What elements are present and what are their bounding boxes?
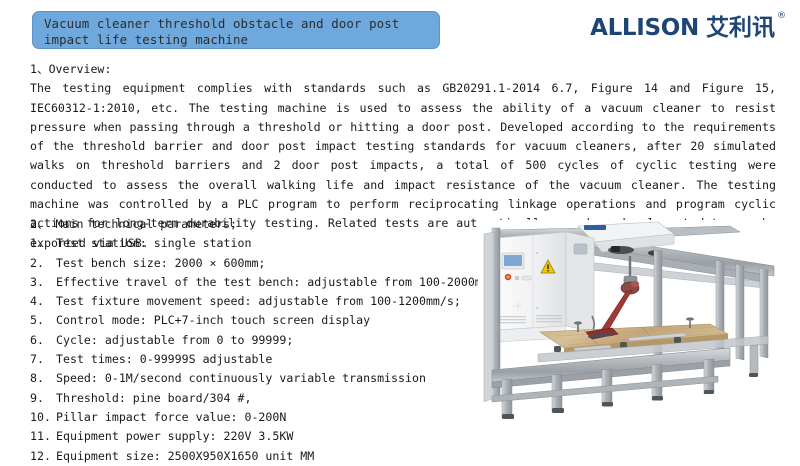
parameters-section: 2、 Main technical parameters; 1.Test sta… [30, 215, 470, 466]
parameter-text: Control mode: PLC+7-inch touch screen di… [56, 311, 470, 330]
parameter-number: 2. [30, 254, 56, 273]
parameter-number: 1. [30, 234, 56, 253]
parameter-row: 12.Equipment size: 2500X950X1650 unit MM [30, 447, 470, 466]
brand-name-cjk: 艾利讯 [706, 16, 775, 40]
parameters-heading: 2、 Main technical parameters; [30, 215, 470, 234]
parameter-number: 4. [30, 292, 56, 311]
parameter-number: 6. [30, 331, 56, 350]
parameter-text: Pillar impact force value: 0-200N [56, 408, 470, 427]
parameter-text: Cycle: adjustable from 0 to 99999; [56, 331, 470, 350]
parameter-row: 7.Test times: 0-99999S adjustable [30, 350, 470, 369]
machine-photo [478, 220, 800, 450]
parameter-number: 8. [30, 369, 56, 388]
parameter-row: 1.Test station: single station [30, 234, 470, 253]
parameter-number: 9. [30, 389, 56, 408]
control-panel-switch[interactable] [522, 276, 531, 280]
frame-base [492, 336, 768, 419]
parameter-text: Test station: single station [56, 234, 470, 253]
overview-heading: 1、Overview: [30, 60, 776, 79]
parameter-text: Equipment size: 2500X950X1650 unit MM [56, 447, 470, 466]
parameter-row: 9.Threshold: pine board/304 #, [30, 389, 470, 408]
parameter-row: 11.Equipment power supply: 220V 3.5KW [30, 427, 470, 446]
parameter-number: 12. [30, 447, 56, 466]
side-panel-window [574, 244, 587, 254]
machine-illustration [478, 220, 800, 450]
parameter-row: 5.Control mode: PLC+7-inch touch screen … [30, 311, 470, 330]
parameter-row: 3.Effective travel of the test bench: ad… [30, 273, 470, 292]
parameter-text: Test times: 0-99999S adjustable [56, 350, 470, 369]
parameter-text: Test fixture movement speed: adjustable … [56, 292, 470, 311]
page-header: Vacuum cleaner threshold obstacle and do… [0, 0, 800, 58]
registered-trademark-icon: ® [777, 12, 786, 21]
parameter-row: 6.Cycle: adjustable from 0 to 99999; [30, 331, 470, 350]
parameter-text: Equipment power supply: 220V 3.5KW [56, 427, 470, 446]
control-cabinet [496, 232, 594, 342]
parameter-row: 8.Speed: 0-1M/second continuously variab… [30, 369, 470, 388]
parameter-number: 11. [30, 427, 56, 446]
parameter-number: 7. [30, 350, 56, 369]
parameter-text: Test bench size: 2000 × 600mm; [56, 254, 470, 273]
brand-logo: ALLISON 艾利讯 ® [590, 16, 786, 40]
page-title: Vacuum cleaner threshold obstacle and do… [32, 11, 440, 49]
indicator-lamp-icon [515, 276, 519, 280]
parameter-text: Speed: 0-1M/second continuously variable… [56, 369, 470, 388]
brand-name-latin: ALLISON [590, 16, 699, 40]
parameter-row: 10.Pillar impact force value: 0-200N [30, 408, 470, 427]
touch-screen-display[interactable] [502, 253, 524, 269]
parameter-row: 4.Test fixture movement speed: adjustabl… [30, 292, 470, 311]
parameters-list: 1.Test station: single station2.Test ben… [30, 234, 470, 466]
parameter-number: 10. [30, 408, 56, 427]
parameter-row: 2.Test bench size: 2000 × 600mm; [30, 254, 470, 273]
parameter-number: 3. [30, 273, 56, 292]
parameter-text: Effective travel of the test bench: adju… [56, 273, 496, 292]
parameter-text: Threshold: pine board/304 #, [56, 389, 470, 408]
parameter-number: 5. [30, 311, 56, 330]
emergency-stop-button[interactable] [505, 274, 511, 280]
